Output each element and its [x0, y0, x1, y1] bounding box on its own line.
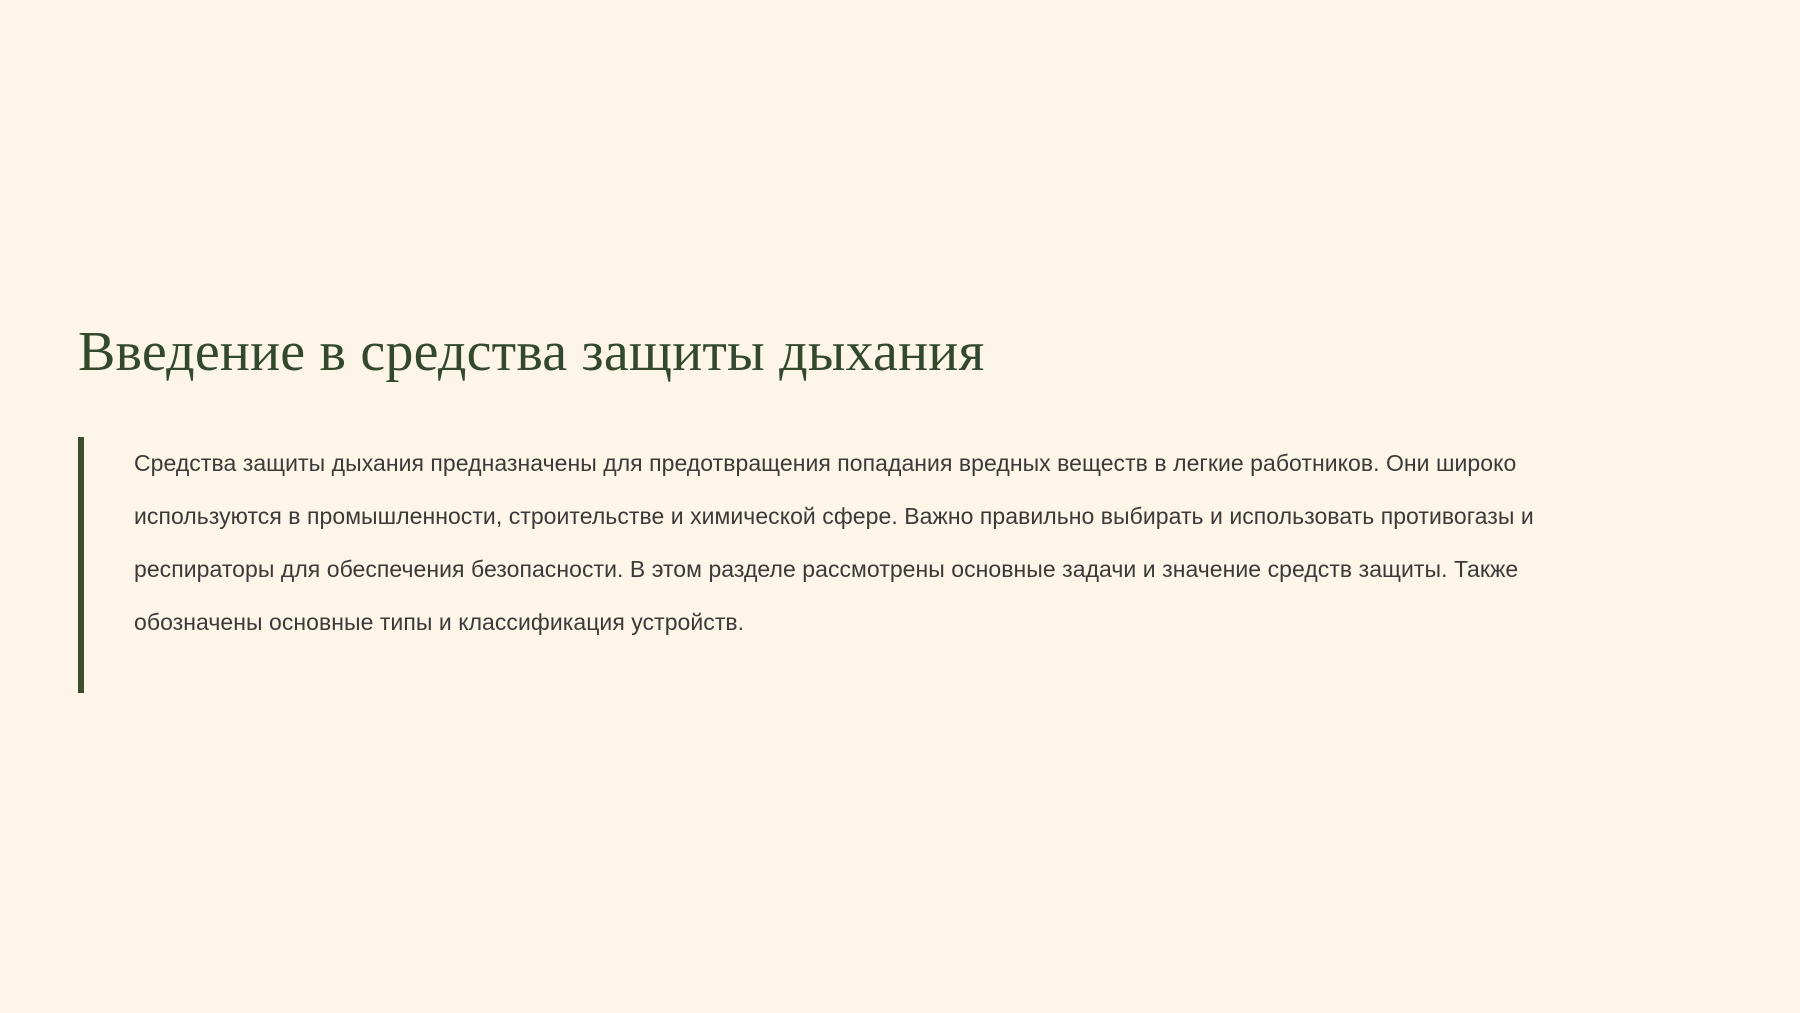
body-callout-block: Средства защиты дыхания предназначены дл…	[78, 437, 1650, 693]
body-paragraph: Средства защиты дыхания предназначены дл…	[134, 437, 1650, 649]
slide-content: Введение в средства защиты дыхания Средс…	[78, 0, 1678, 1013]
slide-canvas: Введение в средства защиты дыхания Средс…	[0, 0, 1800, 1013]
page-title: Введение в средства защиты дыхания	[78, 318, 984, 386]
